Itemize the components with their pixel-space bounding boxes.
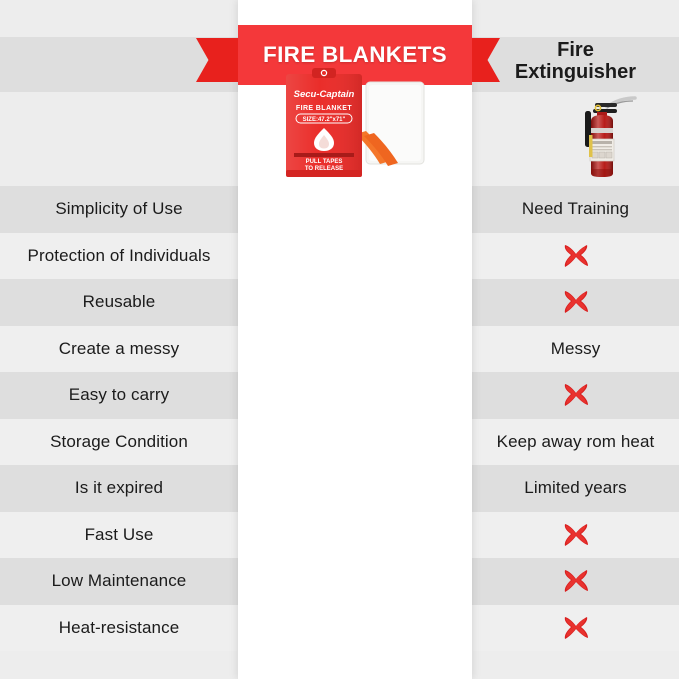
fire-extinguisher-cell <box>472 279 679 326</box>
row-label: Heat-resistance <box>0 605 238 652</box>
cross-icon <box>560 381 592 409</box>
cross-icon <box>560 242 592 270</box>
row-label: Storage Condition <box>0 419 238 466</box>
featured-column-panel <box>238 0 472 679</box>
cross-icon <box>560 521 592 549</box>
cross-icon <box>560 614 592 642</box>
fire-extinguisher-cell: Limited years <box>472 465 679 512</box>
cross-icon <box>560 288 592 316</box>
competitor-title-line2: Extinguisher <box>515 61 636 83</box>
row-label: Easy to carry <box>0 372 238 419</box>
fire-extinguisher-cell: Need Training <box>472 186 679 233</box>
row-label: Reusable <box>0 279 238 326</box>
fire-extinguisher-cell <box>472 233 679 280</box>
fire-extinguisher-cell: Keep away rom heat <box>472 419 679 466</box>
competitor-title-line1: Fire <box>557 39 594 61</box>
fire-extinguisher-cell: Messy <box>472 326 679 373</box>
row-label: Low Maintenance <box>0 558 238 605</box>
fire-extinguisher-cell <box>472 605 679 652</box>
row-label: Protection of Individuals <box>0 233 238 280</box>
competitor-column-title: Fire Extinguisher <box>472 32 679 90</box>
row-label: Simplicity of Use <box>0 186 238 233</box>
row-label: Create a messy <box>0 326 238 373</box>
cross-icon <box>560 567 592 595</box>
fire-extinguisher-cell <box>472 512 679 559</box>
fire-extinguisher-cell <box>472 372 679 419</box>
comparison-table: Simplicity of UseEasy for all AgesNeed T… <box>0 0 679 679</box>
row-label: Fast Use <box>0 512 238 559</box>
row-label: Is it expired <box>0 465 238 512</box>
fire-extinguisher-cell <box>472 558 679 605</box>
